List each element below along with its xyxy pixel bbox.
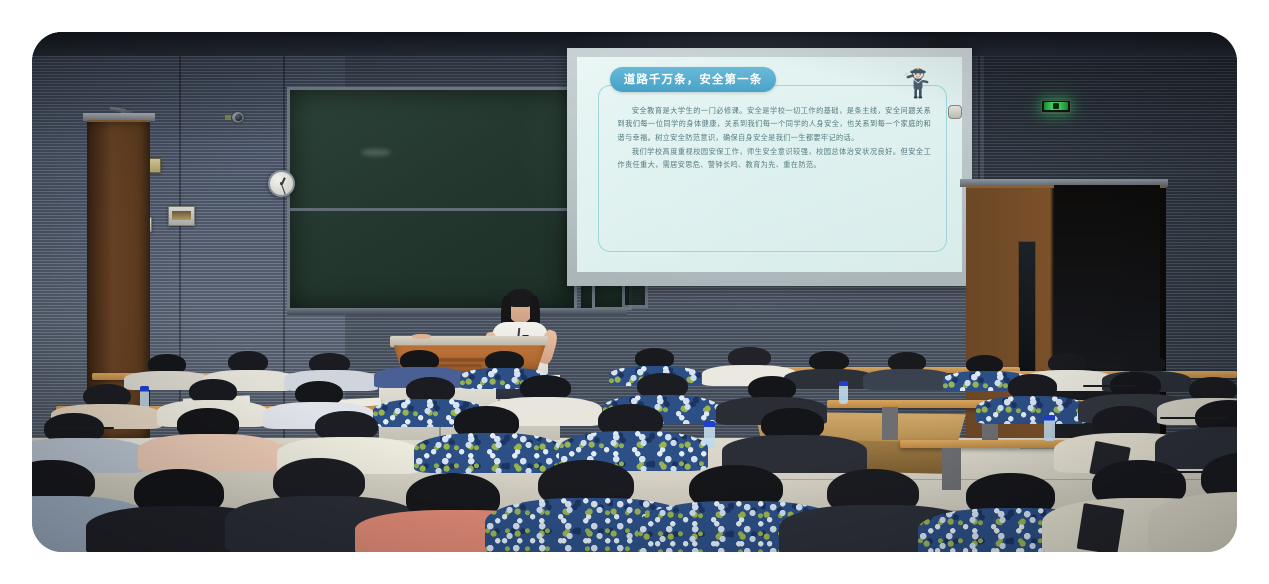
police-officer-cartoon-icon	[903, 62, 933, 102]
wall-panel	[168, 206, 195, 226]
slide-paragraph-1: 安全教育是大学生的一门必修课。安全是学校一切工作的基础，是条主线，安全问题关系到…	[617, 104, 931, 144]
audience	[32, 344, 1237, 552]
water-bottle	[839, 381, 848, 404]
projection-screen-frame: 道路千万条，安全第一条 安全教育是	[567, 48, 972, 286]
emergency-exit-sign	[1041, 100, 1071, 113]
slide-paragraph-2: 我们学校高度重视校园安保工作，师生安全意识较强，校园总体治安状况良好。但安全工作…	[617, 145, 931, 172]
wall-sensor	[948, 105, 962, 119]
water-bottle	[1044, 415, 1055, 441]
projected-slide: 道路千万条，安全第一条 安全教育是	[577, 57, 962, 272]
surveillance-camera-icon	[225, 111, 245, 125]
slide-title: 道路千万条，安全第一条	[610, 67, 777, 92]
chalk-tray	[287, 308, 627, 316]
photo-frame: 道路千万条，安全第一条 安全教育是	[32, 32, 1237, 552]
wall-clock	[268, 170, 295, 197]
slide-body: 安全教育是大学生的一门必修课。安全是学校一切工作的基础，是条主线，安全问题关系到…	[617, 104, 931, 173]
blackboard-main	[287, 87, 576, 311]
